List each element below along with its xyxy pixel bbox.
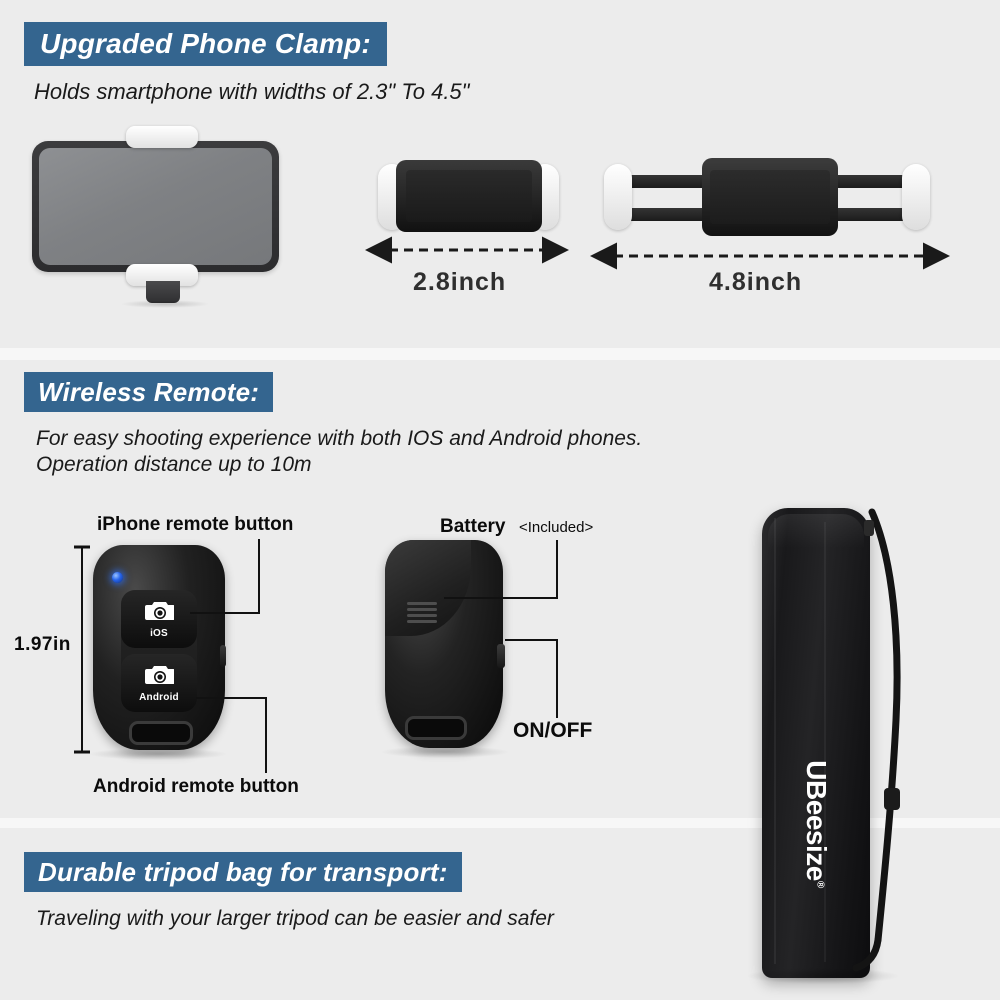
product-infographic: Upgraded Phone Clamp: Holds smartphone w… [0, 0, 1000, 1000]
power-led-icon [112, 572, 123, 583]
remote-back-body [385, 540, 503, 748]
remote-front-body: iOS Android [93, 545, 225, 750]
brand-logo-text: UBeesize [801, 760, 832, 881]
android-shutter-button[interactable]: Android [121, 654, 197, 712]
section-heading-wireless-remote: Wireless Remote: [24, 372, 273, 412]
tripod-bag-seam [774, 518, 776, 964]
brand-logo: UBeesize® [800, 760, 832, 887]
section-divider-1 [0, 348, 1000, 360]
clamp-extended-cap-left [604, 164, 632, 230]
phone-body [32, 141, 279, 272]
ios-button-label: iOS [150, 628, 168, 639]
remote-lanyard-loop [129, 721, 193, 745]
remote-back-shadow [380, 746, 510, 758]
remote-height-dimension-label: 1.97in [14, 634, 71, 656]
tripod-bag-top-flap [768, 514, 864, 548]
section-subtext-tripod-bag: Traveling with your larger tripod can be… [36, 906, 554, 933]
android-button-label: Android [139, 692, 179, 703]
clamp-closed-dimension-label: 2.8inch [413, 268, 506, 297]
callout-android-remote-button: Android remote button [93, 776, 299, 798]
section-subtext-phone-clamp: Holds smartphone with widths of 2.3" To … [34, 78, 469, 106]
section-heading-tripod-bag: Durable tripod bag for transport: [24, 852, 462, 892]
clamp-extended-cap-right [902, 164, 930, 230]
tripod-bag-body: UBeesize® [762, 508, 870, 978]
callout-battery: Battery [440, 516, 505, 538]
tripod-bag-shadow [748, 968, 898, 984]
remote-back-lanyard-loop [405, 716, 467, 740]
battery-cover [385, 540, 471, 636]
section-subtext-wireless-remote-line1: For easy shooting experience with both I… [36, 426, 642, 453]
clamp-extended-body [702, 158, 838, 236]
tripod-bag-zipper [824, 522, 826, 962]
callout-battery-note: <Included> [519, 519, 593, 536]
remote-button-pad: iOS Android [121, 590, 197, 712]
section-heading-phone-clamp: Upgraded Phone Clamp: [24, 22, 387, 66]
clamp-drop-shadow [120, 300, 210, 308]
camera-shutter-icon [144, 600, 174, 627]
power-switch[interactable] [497, 644, 505, 668]
remote-front-shadow [88, 748, 228, 760]
clamp-jaw-top [126, 126, 198, 148]
callout-power-switch: ON/OFF [513, 719, 592, 743]
clamp-extended-dimension-label: 4.8inch [709, 268, 802, 297]
callout-iphone-remote-button: iPhone remote button [97, 514, 293, 536]
brand-registered-mark: ® [814, 881, 825, 888]
clamp-closed-body [396, 160, 542, 232]
battery-cover-grip-icon [407, 602, 437, 620]
phone-screen [39, 148, 272, 265]
remote-side-switch[interactable] [220, 645, 226, 667]
camera-shutter-icon [144, 664, 174, 691]
ios-shutter-button[interactable]: iOS [121, 590, 197, 648]
section-subtext-wireless-remote-line2: Operation distance up to 10m [36, 452, 312, 479]
